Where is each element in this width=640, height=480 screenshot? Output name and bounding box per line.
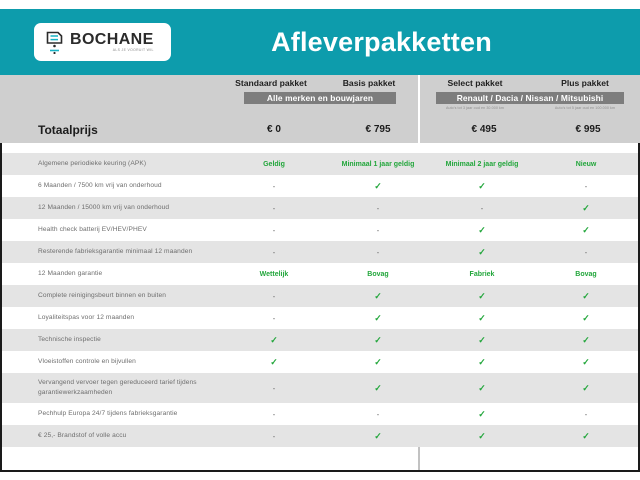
check-icon: ✓	[374, 384, 382, 393]
group-right-band-label: Renault / Dacia / Nissan / Mitsubishi	[436, 92, 624, 104]
check-icon: ✓	[478, 358, 486, 367]
cell-text: Bovag	[534, 263, 638, 285]
feature-comparison-table: Algemene periodieke keuring (APK)GeldigM…	[0, 143, 640, 472]
table-row-cells: -✓✓✓	[222, 425, 638, 447]
table-row-label: Vloeistoffen controle en bijvullen	[2, 357, 222, 367]
cell-text: Nieuw	[534, 153, 638, 175]
cell-check-icon: ✓	[534, 373, 638, 403]
column-header-select-pakket[interactable]: Select pakket	[420, 78, 530, 88]
check-icon: ✓	[270, 336, 278, 345]
group-left-package-names: Standaard pakket Basis pakket	[222, 75, 418, 90]
table-row-label: Complete reinigingsbeurt binnen en buite…	[2, 291, 222, 301]
cell-check-icon: ✓	[326, 307, 430, 329]
total-price-row: Totaalprijs € 0 € 795 € 495 € 995	[0, 116, 640, 143]
total-price-select: € 495	[432, 116, 536, 143]
table-row-label: Loyaliteitspas voor 12 maanden	[2, 313, 222, 323]
cell-text: Bovag	[326, 263, 430, 285]
afleverpakketten-page: BOCHANE ALS JE VOORUIT WIL Afleverpakket…	[0, 0, 640, 480]
table-row-label: 12 Maanden / 15000 km vrij van onderhoud	[2, 203, 222, 213]
cell-check-icon: ✓	[222, 351, 326, 373]
column-header-strip: Standaard pakket Basis pakket Alle merke…	[0, 75, 640, 116]
check-icon: ✓	[478, 432, 486, 441]
cell-check-icon: ✓	[326, 285, 430, 307]
bochane-tagline: ALS JE VOORUIT WIL	[70, 49, 154, 53]
cell-text: Wettelijk	[222, 263, 326, 285]
cell-check-icon: ✓	[534, 351, 638, 373]
table-row: Vervangend vervoer tegen gereduceerd tar…	[2, 373, 638, 403]
cell-check-icon: ✓	[430, 351, 534, 373]
table-row-cells: WettelijkBovagFabriekBovag	[222, 263, 638, 285]
cell-dash: -	[222, 373, 326, 403]
cell-dash: -	[534, 175, 638, 197]
table-row-label: 12 Maanden garantie	[2, 269, 222, 279]
check-icon: ✓	[478, 292, 486, 301]
table-row: Algemene periodieke keuring (APK)GeldigM…	[2, 153, 638, 175]
cell-check-icon: ✓	[430, 285, 534, 307]
cell-check-icon: ✓	[534, 197, 638, 219]
package-group-all-brands: Standaard pakket Basis pakket Alle merke…	[222, 75, 418, 116]
table-row-cells: ✓✓✓✓	[222, 351, 638, 373]
bochane-logo-mark-icon	[45, 31, 64, 54]
subnote-plus: Auto's tot 5 jaar oud en 100.000 km	[530, 106, 640, 110]
cell-text: Minimaal 2 jaar geldig	[430, 153, 534, 175]
column-header-plus-pakket[interactable]: Plus pakket	[530, 78, 640, 88]
table-row: 6 Maanden / 7500 km vrij van onderhoud-✓…	[2, 175, 638, 197]
check-icon: ✓	[374, 358, 382, 367]
page-banner: BOCHANE ALS JE VOORUIT WIL Afleverpakket…	[0, 9, 640, 75]
cell-check-icon: ✓	[326, 425, 430, 447]
cell-check-icon: ✓	[326, 329, 430, 351]
table-row: Resterende fabrieksgarantie minimaal 12 …	[2, 241, 638, 263]
cell-dash: -	[326, 219, 430, 241]
cell-dash: -	[534, 403, 638, 425]
bochane-logo[interactable]: BOCHANE ALS JE VOORUIT WIL	[34, 23, 171, 61]
cell-dash: -	[222, 403, 326, 425]
cell-dash: -	[222, 219, 326, 241]
check-icon: ✓	[374, 336, 382, 345]
table-row-label: Algemene periodieke keuring (APK)	[2, 159, 222, 169]
group-right-subnotes: Auto's tot 3 jaar oud en 30.000 km Auto'…	[420, 106, 640, 110]
table-row-cells: ✓✓✓✓	[222, 329, 638, 351]
feature-table-body: Algemene periodieke keuring (APK)GeldigM…	[2, 143, 638, 471]
cell-dash: -	[534, 241, 638, 263]
table-row-cells: --✓-	[222, 241, 638, 263]
table-row: Loyaliteitspas voor 12 maanden-✓✓✓	[2, 307, 638, 329]
table-row: 12 Maanden / 15000 km vrij van onderhoud…	[2, 197, 638, 219]
cell-check-icon: ✓	[534, 425, 638, 447]
cell-check-icon: ✓	[534, 285, 638, 307]
cell-check-icon: ✓	[534, 307, 638, 329]
check-icon: ✓	[582, 292, 590, 301]
table-row-cells: -✓✓✓	[222, 307, 638, 329]
cell-check-icon: ✓	[430, 373, 534, 403]
bochane-wordmark: BOCHANE	[70, 32, 154, 48]
table-row-label: 6 Maanden / 7500 km vrij van onderhoud	[2, 181, 222, 191]
table-row: 12 Maanden garantieWettelijkBovagFabriek…	[2, 263, 638, 285]
check-icon: ✓	[582, 204, 590, 213]
table-row-label: Vervangend vervoer tegen gereduceerd tar…	[2, 378, 222, 398]
check-icon: ✓	[478, 226, 486, 235]
table-row: Health check batterij EV/HEV/PHEV--✓✓	[2, 219, 638, 241]
group-right-package-names: Select pakket Plus pakket	[420, 75, 640, 90]
check-icon: ✓	[478, 410, 486, 419]
check-icon: ✓	[478, 248, 486, 257]
table-row: € 25,- Brandstof of volle accu-✓✓✓	[2, 425, 638, 447]
check-icon: ✓	[478, 336, 486, 345]
check-icon: ✓	[478, 384, 486, 393]
cell-dash: -	[222, 175, 326, 197]
group-left-band-label: Alle merken en bouwjaren	[244, 92, 396, 104]
total-price-basis: € 795	[326, 116, 430, 143]
cell-check-icon: ✓	[326, 373, 430, 403]
cell-check-icon: ✓	[534, 219, 638, 241]
cell-check-icon: ✓	[430, 425, 534, 447]
table-row-label: Health check batterij EV/HEV/PHEV	[2, 225, 222, 235]
cell-text: Geldig	[222, 153, 326, 175]
cell-check-icon: ✓	[430, 175, 534, 197]
table-row-label: € 25,- Brandstof of volle accu	[2, 431, 222, 441]
check-icon: ✓	[478, 182, 486, 191]
cell-text: Minimaal 1 jaar geldig	[326, 153, 430, 175]
cell-dash: -	[222, 241, 326, 263]
cell-check-icon: ✓	[430, 307, 534, 329]
total-price-label: Totaalprijs	[38, 116, 98, 143]
table-row-cells: -✓✓✓	[222, 373, 638, 403]
table-row-cells: ---✓	[222, 197, 638, 219]
table-bottom-spacer	[2, 447, 638, 471]
check-icon: ✓	[374, 292, 382, 301]
cell-text: Fabriek	[430, 263, 534, 285]
check-icon: ✓	[582, 336, 590, 345]
total-price-values: € 0 € 795 € 495 € 995	[222, 116, 640, 143]
table-row-cells: -✓✓-	[222, 175, 638, 197]
table-row: Technische inspectie✓✓✓✓	[2, 329, 638, 351]
table-row-label: Pechhulp Europa 24/7 tijdens fabrieksgar…	[2, 409, 222, 419]
check-icon: ✓	[582, 432, 590, 441]
column-header-basis-pakket[interactable]: Basis pakket	[320, 78, 418, 88]
check-icon: ✓	[582, 384, 590, 393]
subnote-select: Auto's tot 3 jaar oud en 30.000 km	[420, 106, 530, 110]
cell-dash: -	[326, 403, 430, 425]
table-row-label: Technische inspectie	[2, 335, 222, 345]
table-row: Complete reinigingsbeurt binnen en buite…	[2, 285, 638, 307]
cell-check-icon: ✓	[430, 403, 534, 425]
total-price-standaard: € 0	[222, 116, 326, 143]
cell-check-icon: ✓	[326, 175, 430, 197]
cell-dash: -	[430, 197, 534, 219]
cell-dash: -	[222, 197, 326, 219]
cell-dash: -	[222, 285, 326, 307]
cell-dash: -	[222, 425, 326, 447]
table-row: Vloeistoffen controle en bijvullen✓✓✓✓	[2, 351, 638, 373]
table-row-cells: GeldigMinimaal 1 jaar geldigMinimaal 2 j…	[222, 153, 638, 175]
check-icon: ✓	[374, 314, 382, 323]
table-top-spacer	[2, 143, 638, 153]
cell-dash: -	[326, 197, 430, 219]
cell-check-icon: ✓	[430, 219, 534, 241]
table-row-cells: -✓✓✓	[222, 285, 638, 307]
column-header-standaard-pakket[interactable]: Standaard pakket	[222, 78, 320, 88]
bochane-logo-text: BOCHANE ALS JE VOORUIT WIL	[70, 32, 154, 53]
check-icon: ✓	[374, 432, 382, 441]
table-row-cells: --✓✓	[222, 219, 638, 241]
cell-check-icon: ✓	[430, 329, 534, 351]
total-price-plus: € 995	[536, 116, 640, 143]
table-row: Pechhulp Europa 24/7 tijdens fabrieksgar…	[2, 403, 638, 425]
check-icon: ✓	[478, 314, 486, 323]
cell-check-icon: ✓	[326, 351, 430, 373]
table-row-cells: --✓-	[222, 403, 638, 425]
package-group-renault-dacia-nissan-mitsubishi: Select pakket Plus pakket Renault / Daci…	[420, 75, 640, 116]
check-icon: ✓	[270, 358, 278, 367]
table-row-label: Resterende fabrieksgarantie minimaal 12 …	[2, 247, 222, 257]
check-icon: ✓	[374, 182, 382, 191]
check-icon: ✓	[582, 314, 590, 323]
page-title: Afleverpakketten	[171, 27, 592, 58]
cell-dash: -	[222, 307, 326, 329]
check-icon: ✓	[582, 358, 590, 367]
cell-check-icon: ✓	[430, 241, 534, 263]
cell-dash: -	[326, 241, 430, 263]
cell-check-icon: ✓	[222, 329, 326, 351]
check-icon: ✓	[582, 226, 590, 235]
cell-check-icon: ✓	[534, 329, 638, 351]
